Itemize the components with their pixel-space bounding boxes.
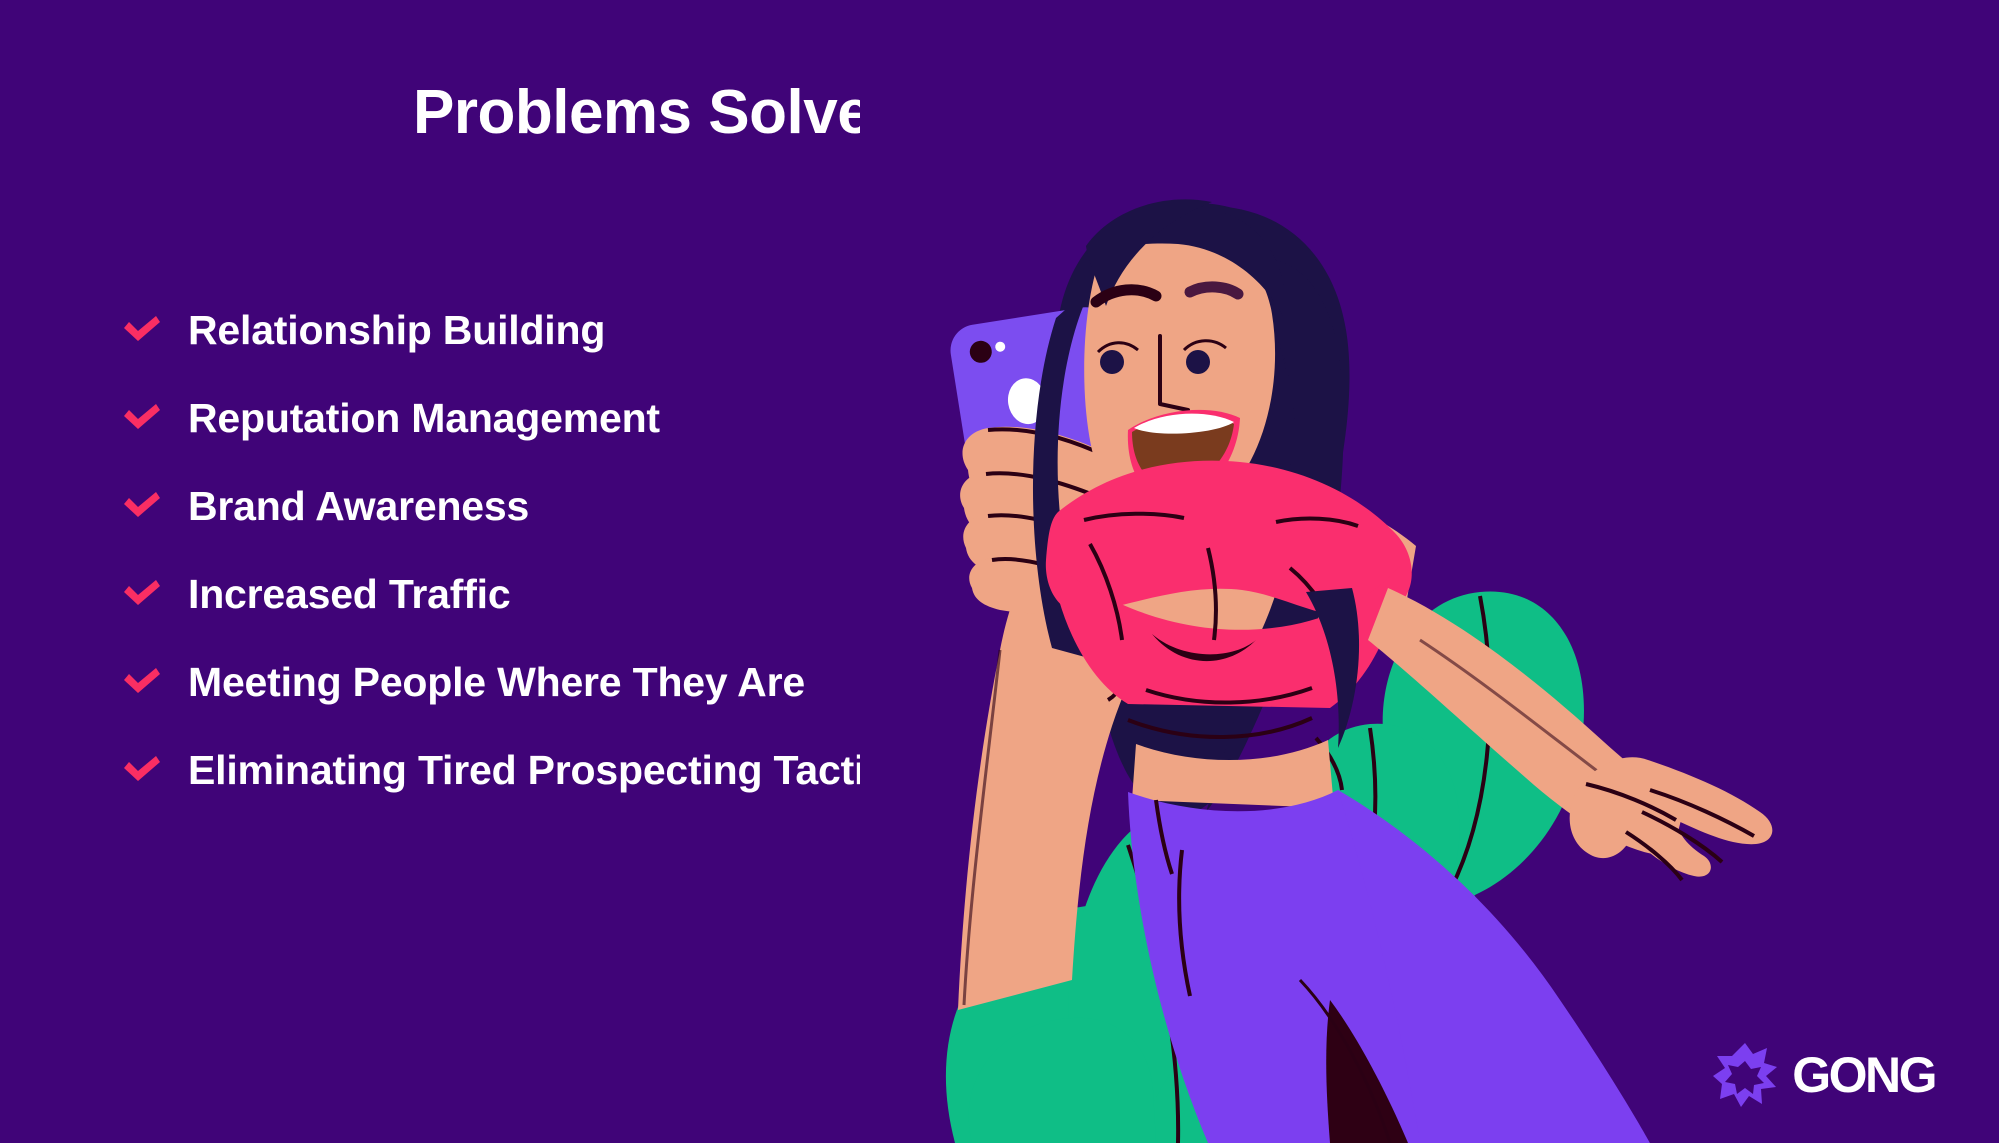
list-item-label: Brand Awareness (188, 486, 529, 527)
check-icon (120, 660, 164, 704)
eye-left (1100, 350, 1124, 374)
list-item-label: Meeting People Where They Are (188, 662, 805, 703)
list-item-label: Eliminating Tired Prospecting Tactics (188, 750, 910, 791)
slide-canvas: Problems Solved Through Social Selling R… (0, 0, 1999, 1143)
gong-starburst-icon (1712, 1042, 1778, 1108)
illustration-woman-selfie (860, 0, 1999, 1143)
check-icon (120, 308, 164, 352)
gong-logo[interactable]: GONG (1712, 1039, 1935, 1111)
check-icon (120, 748, 164, 792)
check-icon (120, 484, 164, 528)
list-item-label: Reputation Management (188, 398, 660, 439)
eye-right (1186, 350, 1210, 374)
check-icon (120, 396, 164, 440)
list-item-label: Increased Traffic (188, 574, 510, 615)
gong-logo-text: GONG (1792, 1050, 1935, 1100)
check-icon (120, 572, 164, 616)
list-item-label: Relationship Building (188, 310, 605, 351)
